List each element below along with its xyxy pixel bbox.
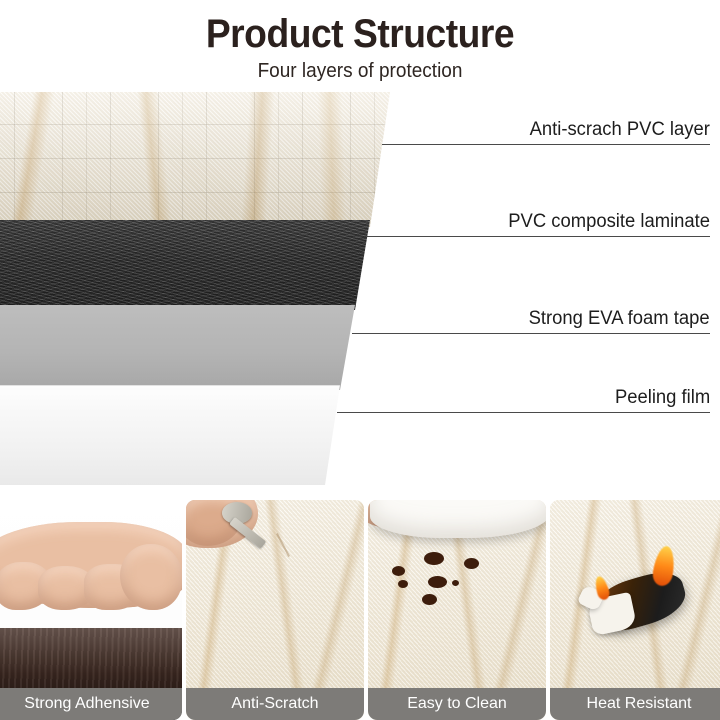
- product-structure-infographic: Product Structure Four layers of protect…: [0, 0, 720, 720]
- feature-card-strong-adhensive[interactable]: Strong Adhensive: [0, 500, 182, 720]
- label-layer-1: Anti-scrach PVC layer: [530, 119, 710, 141]
- label-layer-4: Peeling film: [615, 387, 710, 409]
- layer-stack-diagram: Anti-scrach PVC layer PVC composite lami…: [0, 92, 720, 492]
- leader-line-layer-4: [337, 412, 710, 413]
- feature-caption-1: Strong Adhensive: [0, 688, 182, 720]
- layer-2-pvc-composite-laminate: [0, 220, 398, 310]
- layer-4-peeling-film: [0, 385, 385, 485]
- label-layer-3: Strong EVA foam tape: [529, 308, 710, 330]
- feature-caption-4: Heat Resistant: [550, 688, 720, 720]
- leader-line-layer-3: [352, 333, 710, 334]
- feature-card-easy-to-clean[interactable]: Easy to Clean: [368, 500, 546, 720]
- flame-icon: [550, 500, 720, 720]
- feature-card-anti-scratch[interactable]: Anti-Scratch: [186, 500, 364, 720]
- leader-line-layer-2: [367, 236, 710, 237]
- layer-1-anti-scratch-pvc: [0, 92, 400, 227]
- page-title: Product Structure: [25, 0, 695, 55]
- page-subtitle: Four layers of protection: [18, 55, 702, 82]
- feature-card-heat-resistant[interactable]: Heat Resistant: [550, 500, 720, 720]
- leader-line-layer-1: [382, 144, 710, 145]
- layer-film-icon: [0, 385, 385, 485]
- layer-charcoal-icon: [0, 220, 398, 310]
- hand-press-icon: [0, 500, 182, 720]
- feature-strip: Strong Adhensive Anti-Scratch: [0, 500, 720, 720]
- layer-stone-icon: [0, 92, 400, 227]
- feature-caption-3: Easy to Clean: [368, 688, 546, 720]
- feature-caption-2: Anti-Scratch: [186, 688, 364, 720]
- cloth-wipe-icon: [368, 500, 546, 720]
- header: Product Structure Four layers of protect…: [0, 0, 720, 82]
- layer-foam-icon: [0, 305, 390, 390]
- layer-3-eva-foam-tape: [0, 305, 390, 390]
- key-scratch-icon: [186, 500, 364, 720]
- label-layer-2: PVC composite laminate: [508, 211, 710, 233]
